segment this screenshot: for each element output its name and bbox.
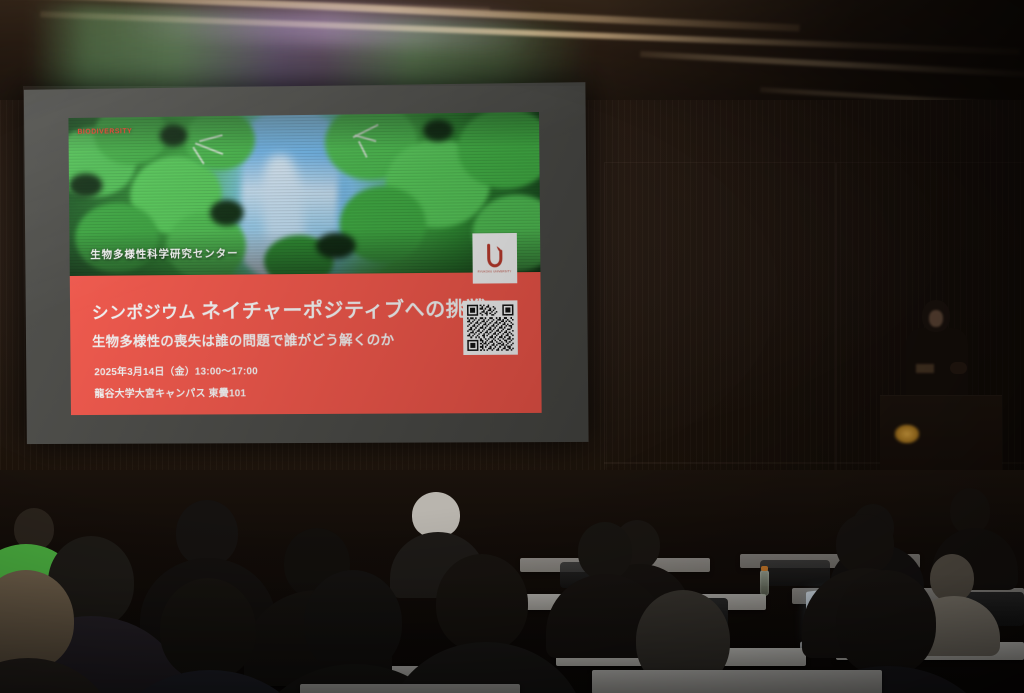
person-head [836,514,894,574]
slide-venue: 龍谷大学大宮キャンパス 東黌101 [94,384,258,400]
bottle-cap [761,566,768,571]
slide-title: シンポジウム ネイチャーポジティブへの挑戦 [92,293,492,325]
slide-title-main: ネイチャーポジティブへの挑戦 [201,299,487,323]
qr-code-icon [467,304,514,351]
podium-emblem-icon [894,424,920,444]
university-logo: RYUKOKU UNIVERSITY [472,233,517,284]
lecture-hall-photo: BIODIVERSITY 生物多様性科学研究センター シンポジウム ネイチャーポ… [0,0,1024,693]
slide-datetime: 2025年3月14日（金）13:00〜17:00 [94,362,258,378]
presentation-slide: BIODIVERSITY 生物多様性科学研究センター シンポジウム ネイチャーポ… [68,112,541,415]
ryukoku-logo-icon [485,243,505,267]
speaker-hand [950,362,967,374]
person-head [950,488,990,534]
center-logo-mark: BIODIVERSITY [77,128,132,136]
qr-code [463,300,518,355]
person-head [160,578,256,680]
person-head [304,570,402,674]
speaker-notes [916,364,934,373]
speaker-face [929,310,943,327]
person-head [436,554,528,652]
person-head [836,570,936,676]
slide-subtitle: 生物多様性の喪失は誰の問題で誰がどう解くのか [92,328,395,350]
projection-screen: BIODIVERSITY 生物多様性科学研究センター シンポジウム ネイチャーポ… [24,82,589,444]
university-logo-name: RYUKOKU UNIVERSITY [478,269,512,273]
audience-area [0,470,1024,693]
center-name-overline: 生物多様性科学研究センター [90,246,238,262]
speaker [900,300,974,400]
chair [760,560,830,586]
desk [300,684,520,693]
person-head [176,500,238,566]
person-head [578,522,632,580]
water-bottle [760,570,769,596]
person-head [930,554,974,602]
slide-title-band: シンポジウム ネイチャーポジティブへの挑戦 生物多様性の喪失は誰の問題で誰がどう… [70,272,542,415]
slide-title-prefix: シンポジウム [92,303,201,323]
slide-meta: 2025年3月14日（金）13:00〜17:00 龍谷大学大宮キャンパス 東黌1… [94,362,258,407]
desk [592,670,882,693]
